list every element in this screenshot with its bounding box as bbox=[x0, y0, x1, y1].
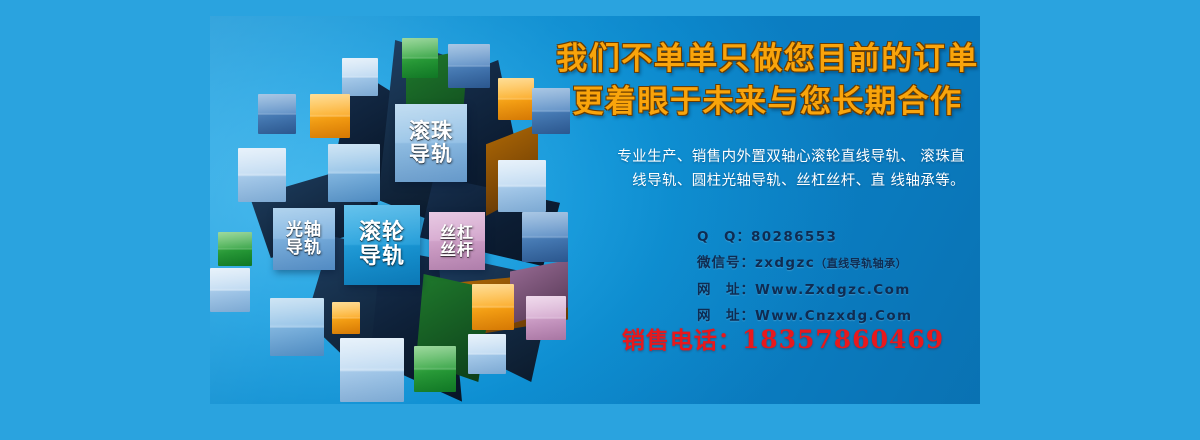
cube-orange-lower-right bbox=[472, 284, 514, 330]
product-blurb-line-1: 专业生产、销售内外置双轴心滚轮直线导轨、 bbox=[617, 149, 915, 165]
product-label-gunzhu-line1: 滚珠 bbox=[409, 120, 453, 143]
contact-note-wechat: （直线导轨轴承） bbox=[815, 257, 907, 270]
contact-list: Q Q：80286553 微信号：zxdgzc（直线导轨轴承） 网 址：Www.… bbox=[697, 224, 913, 329]
cube-blue-center-left bbox=[328, 144, 380, 202]
headline: 我们不单单只做您目前的订单 更着眼于未来与您长期合作 bbox=[555, 38, 980, 124]
product-label-guangzhou-line1: 光轴 bbox=[286, 221, 322, 239]
banner-page: 滚珠 导轨 光轴 导轨 滚轮 导轨 丝杠 丝杆 我们不单单只做您目前的订单 更着… bbox=[0, 0, 1200, 440]
cube-blue-top-right bbox=[448, 44, 490, 88]
sales-phone-label: 销售电话： bbox=[622, 328, 742, 354]
product-label-sigang-line1: 丝杠 bbox=[440, 224, 474, 241]
headline-line-1: 我们不单单只做您目前的订单 bbox=[555, 38, 980, 81]
cube-pale-lower-left bbox=[210, 268, 250, 312]
cube-pale-right-mid bbox=[498, 160, 546, 212]
exploding-cube-cluster-graphic: 滚珠 导轨 光轴 导轨 滚轮 导轨 丝杠 丝杆 bbox=[210, 16, 570, 404]
product-label-gunlun-daogui[interactable]: 滚轮 导轨 bbox=[344, 205, 420, 285]
copy-column: 我们不单单只做您目前的订单 更着眼于未来与您长期合作 专业生产、销售内外置双轴心… bbox=[555, 16, 980, 404]
cube-orange-upper-left bbox=[310, 94, 350, 138]
contact-label-qq: Q Q： bbox=[697, 224, 751, 250]
cube-blue-lower-left bbox=[270, 298, 324, 356]
product-label-gunlun-line2: 导轨 bbox=[359, 245, 405, 269]
promotional-banner: 滚珠 导轨 光轴 导轨 滚轮 导轨 丝杠 丝杆 我们不单单只做您目前的订单 更着… bbox=[210, 16, 980, 404]
contact-label-wechat: 微信号： bbox=[697, 250, 755, 276]
product-label-gunzhu-line2: 导轨 bbox=[409, 143, 453, 166]
cube-green-top bbox=[402, 38, 438, 78]
product-label-sigang-line2: 丝杆 bbox=[440, 241, 474, 258]
contact-value-website-1[interactable]: Www.Zxdgzc.Com bbox=[755, 282, 911, 298]
product-label-guangzhou-line2: 导轨 bbox=[286, 239, 322, 257]
product-label-guangzhou-daogui[interactable]: 光轴 导轨 bbox=[273, 208, 335, 270]
product-label-gunlun-line1: 滚轮 bbox=[359, 221, 405, 245]
product-blurb: 专业生产、销售内外置双轴心滚轮直线导轨、 滚珠直线导轨、圆柱光轴导轨、丝杠丝杆、… bbox=[615, 146, 965, 194]
contact-row-wechat: 微信号：zxdgzc（直线导轨轴承） bbox=[697, 250, 913, 276]
sales-phone-number[interactable]: 18357860469 bbox=[742, 325, 944, 354]
product-blurb-line-3: 线轴承等。 bbox=[891, 173, 966, 189]
contact-value-qq[interactable]: 80286553 bbox=[751, 229, 837, 245]
contact-label-website-1: 网 址： bbox=[697, 277, 755, 303]
headline-line-2: 更着眼于未来与您长期合作 bbox=[555, 81, 980, 124]
contact-value-wechat[interactable]: zxdgzc bbox=[755, 255, 815, 271]
cube-blue-far-left bbox=[258, 94, 296, 134]
product-label-sigang-sigan[interactable]: 丝杠 丝杆 bbox=[429, 212, 485, 270]
contact-row-website-1: 网 址：Www.Zxdgzc.Com bbox=[697, 277, 913, 303]
cube-pale-bottom bbox=[340, 338, 404, 402]
sales-phone[interactable]: 销售电话：18357860469 bbox=[583, 321, 980, 355]
cube-green-bottom bbox=[414, 346, 456, 392]
cube-orange-upper-right bbox=[498, 78, 534, 120]
cube-orange-lower-mid bbox=[332, 302, 360, 334]
contact-row-qq: Q Q：80286553 bbox=[697, 224, 913, 250]
cube-green-left-low bbox=[218, 232, 252, 266]
cube-pale-upper-left bbox=[342, 58, 378, 96]
cube-pale-lower-right bbox=[468, 334, 506, 374]
cube-pale-left-mid bbox=[238, 148, 286, 202]
product-label-gunzhu-daogui[interactable]: 滚珠 导轨 bbox=[395, 104, 467, 182]
